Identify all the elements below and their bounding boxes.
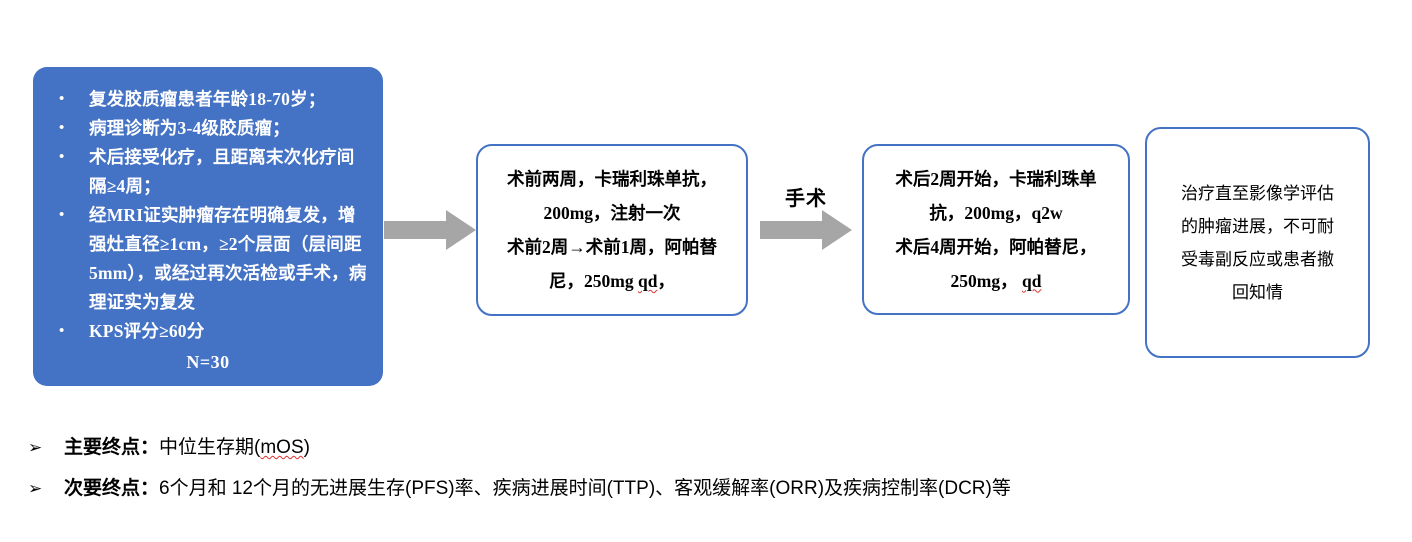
stage-line: 术前两周，卡瑞利珠单抗， [488,162,736,196]
stage-line: 受毒副反应或患者撤 [1157,243,1358,276]
stage-line: 250mg， qd [874,264,1118,298]
flow-arrow-2 [760,210,852,250]
secondary-endpoint-label: 次要终点： [64,473,159,500]
criterion-text: 经MRI证实肿瘤存在明确复发，增强灶直径≥1cm，≥2个层面（层间距5mm），或… [89,205,367,312]
stage-line: 术后2周开始，卡瑞利珠单 [874,162,1118,196]
stage-line: 术前2周→术前1周，阿帕替 [488,230,736,264]
bullet-icon: • [59,201,64,230]
stage-line: 术后4周开始，阿帕替尼， [874,230,1118,264]
stage-line: 回知情 [1157,276,1358,309]
criterion-text: 术后接受化疗，且距离末次化疗间隔≥4周； [89,147,355,196]
eligibility-criteria-list: • 复发胶质瘤患者年龄18-70岁； • 病理诊断为3-4级胶质瘤； • 术后接… [45,85,371,346]
primary-endpoint-value: 中位生存期(mOS) [159,432,310,459]
arrow-bullet-icon: ➢ [28,438,64,458]
list-item: • 复发胶质瘤患者年龄18-70岁； [45,85,371,114]
stage-text-post-op: 术后2周开始，卡瑞利珠单 抗，200mg，q2w 术后4周开始，阿帕替尼， 25… [864,162,1128,298]
bullet-icon: • [59,143,64,172]
criterion-text: 病理诊断为3-4级胶质瘤； [89,118,290,138]
eligibility-criteria-box: • 复发胶质瘤患者年龄18-70岁； • 病理诊断为3-4级胶质瘤； • 术后接… [33,67,383,386]
secondary-endpoint-value: 6个月和 12个月的无进展生存(PFS)率、疾病进展时间(TTP)、客观缓解率(… [159,473,1011,500]
flow-arrow-1 [384,210,476,250]
stage-box-pre-op: 术前两周，卡瑞利珠单抗， 200mg，注射一次 术前2周→术前1周，阿帕替 尼，… [476,144,748,316]
list-item: • 经MRI证实肿瘤存在明确复发，增强灶直径≥1cm，≥2个层面（层间距5mm）… [45,201,371,317]
stage-text-duration: 治疗直至影像学评估 的肿瘤进展，不可耐 受毒副反应或患者撤 回知情 [1147,177,1368,309]
arrow-bullet-icon: ➢ [28,479,64,499]
stage-box-post-op: 术后2周开始，卡瑞利珠单 抗，200mg，q2w 术后4周开始，阿帕替尼， 25… [862,144,1130,315]
stage-line: 200mg，注射一次 [488,196,736,230]
spellcheck-word: qd [1022,271,1041,291]
right-arrow-icon [384,210,476,250]
bullet-icon: • [59,114,64,143]
endpoint-row-primary: ➢ 主要终点： 中位生存期(mOS) [28,432,1368,459]
stage-line: 尼，250mg qd， [488,264,736,298]
spellcheck-word: mOS [260,437,303,458]
flowchart-canvas: • 复发胶质瘤患者年龄18-70岁； • 病理诊断为3-4级胶质瘤； • 术后接… [0,0,1412,542]
sample-size-label: N=30 [45,352,371,373]
stage-box-treatment-duration: 治疗直至影像学评估 的肿瘤进展，不可耐 受毒副反应或患者撤 回知情 [1145,127,1370,358]
endpoints-section: ➢ 主要终点： 中位生存期(mOS) ➢ 次要终点： 6个月和 12个月的无进展… [28,432,1368,514]
primary-endpoint-label: 主要终点： [64,432,159,459]
criterion-text: 复发胶质瘤患者年龄18-70岁； [89,89,326,109]
spellcheck-word: qd [638,271,657,291]
list-item: • 病理诊断为3-4级胶质瘤； [45,114,371,143]
surgery-label: 手术 [760,182,852,211]
criterion-text: KPS评分≥60分 [89,321,204,341]
endpoint-row-secondary: ➢ 次要终点： 6个月和 12个月的无进展生存(PFS)率、疾病进展时间(TTP… [28,473,1368,500]
stage-line: 的肿瘤进展，不可耐 [1157,210,1358,243]
bullet-icon: • [59,85,64,114]
bullet-icon: • [59,317,64,346]
list-item: • KPS评分≥60分 [45,317,371,346]
right-arrow-icon [760,210,852,250]
stage-line: 抗，200mg，q2w [874,196,1118,230]
stage-line: 治疗直至影像学评估 [1157,177,1358,210]
stage-text-pre-op: 术前两周，卡瑞利珠单抗， 200mg，注射一次 术前2周→术前1周，阿帕替 尼，… [478,162,746,298]
list-item: • 术后接受化疗，且距离末次化疗间隔≥4周； [45,143,371,201]
